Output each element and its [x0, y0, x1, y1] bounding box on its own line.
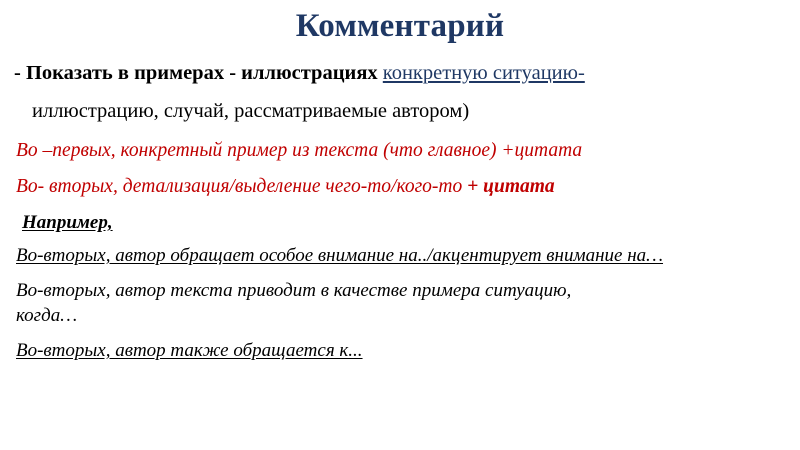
example-one-paragraph: Во-вторых, автор обращает особое внимани…	[16, 243, 792, 268]
red-line-second: Во- вторых, детализация/выделение чего-т…	[16, 175, 792, 198]
slide-body: - Показать в примерах - иллюстрациях кон…	[14, 62, 792, 362]
lead-paragraph: - Показать в примерах - иллюстрациях кон…	[14, 62, 792, 85]
red-second-bold-text: + цитата	[467, 176, 555, 197]
example-three-text: Во-вторых, автор также обращается к...	[16, 340, 363, 361]
red-line-first: Во –первых, конкретный пример из текста …	[16, 139, 792, 162]
page-title-text: Комментарий	[296, 8, 504, 44]
lead-prefix-text: - Показать в примерах - иллюстрациях	[14, 62, 383, 84]
example-two-paragraph: Во-вторых, автор текста приводит в качес…	[16, 278, 778, 328]
example-label-text: Например,	[22, 212, 113, 233]
example-one-text: Во-вторых, автор обращает особое внимани…	[16, 245, 663, 266]
example-three-paragraph: Во-вторых, автор также обращается к...	[16, 339, 792, 362]
lead-continuation-paragraph: иллюстрацию, случай, рассматриваемые авт…	[32, 99, 792, 123]
slide-root: Комментарий - Показать в примерах - иллю…	[0, 0, 800, 450]
red-second-main-text: Во- вторых, детализация/выделение чего-т…	[16, 176, 467, 197]
page-title: Комментарий	[0, 6, 800, 46]
lead-highlight-text: конкретную ситуацию-	[383, 62, 585, 84]
example-label-paragraph: Например,	[22, 212, 792, 234]
example-two-text: Во-вторых, автор текста приводит в качес…	[16, 280, 571, 301]
example-two-tail-text: когда…	[16, 303, 778, 328]
